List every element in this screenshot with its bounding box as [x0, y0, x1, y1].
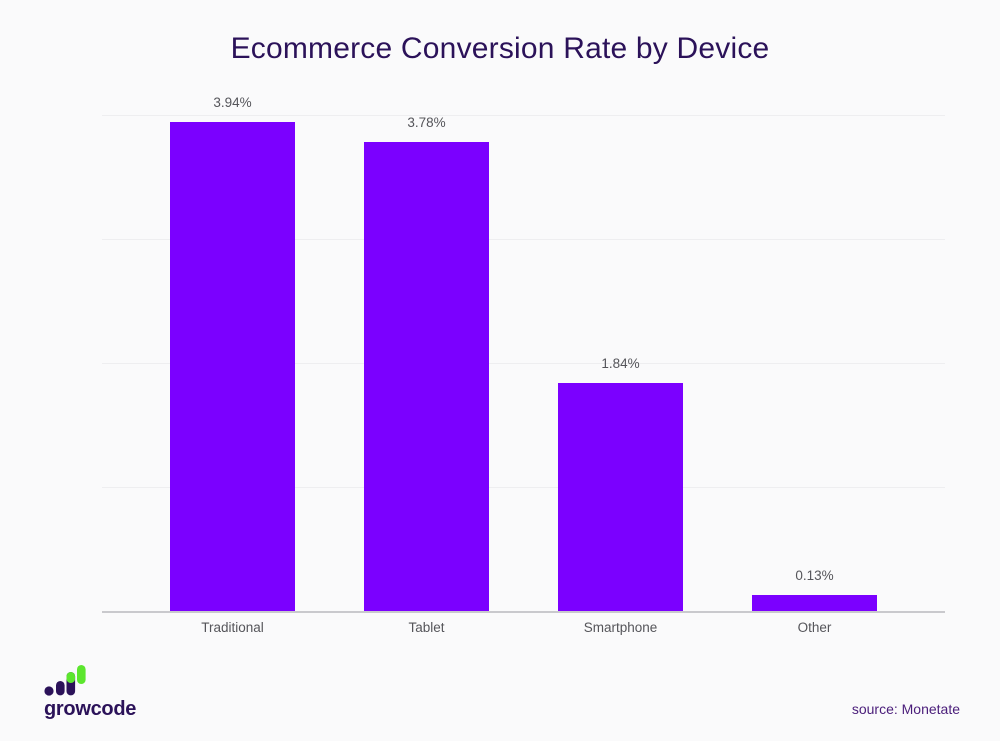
x-axis-category-label: Other: [722, 620, 907, 635]
bar-group[interactable]: 1.84%Smartphone: [558, 115, 683, 611]
brand-wordmark: growcode: [44, 698, 136, 721]
bar-value-label: 3.94%: [170, 95, 295, 110]
bar[interactable]: [364, 142, 489, 611]
bar[interactable]: [752, 595, 877, 611]
bar-value-label: 0.13%: [752, 568, 877, 583]
bar-value-label: 1.84%: [558, 356, 683, 371]
growcode-logo-icon: [44, 664, 90, 701]
bars-layer: 3.94%Traditional3.78%Tablet1.84%Smartpho…: [102, 115, 945, 611]
x-axis-category-label: Traditional: [140, 620, 325, 635]
bar-value-label: 3.78%: [364, 115, 489, 130]
bar[interactable]: [558, 383, 683, 611]
x-axis-category-label: Tablet: [334, 620, 519, 635]
chart-container: Ecommerce Conversion Rate by Device 0.00…: [0, 0, 1000, 741]
chart-title: Ecommerce Conversion Rate by Device: [0, 32, 1000, 66]
x-axis-category-label: Smartphone: [528, 620, 713, 635]
bar[interactable]: [170, 122, 295, 611]
bar-group[interactable]: 0.13%Other: [752, 115, 877, 611]
source-note: source: Monetate: [852, 701, 960, 717]
bar-group[interactable]: 3.94%Traditional: [170, 115, 295, 611]
x-axis-line: [102, 611, 945, 613]
plot-area: 0.00%1.00%2.00%3.00%4.00% 3.94%Tradition…: [102, 115, 945, 611]
brand-logo: growcode: [44, 664, 194, 724]
bar-group[interactable]: 3.78%Tablet: [364, 115, 489, 611]
